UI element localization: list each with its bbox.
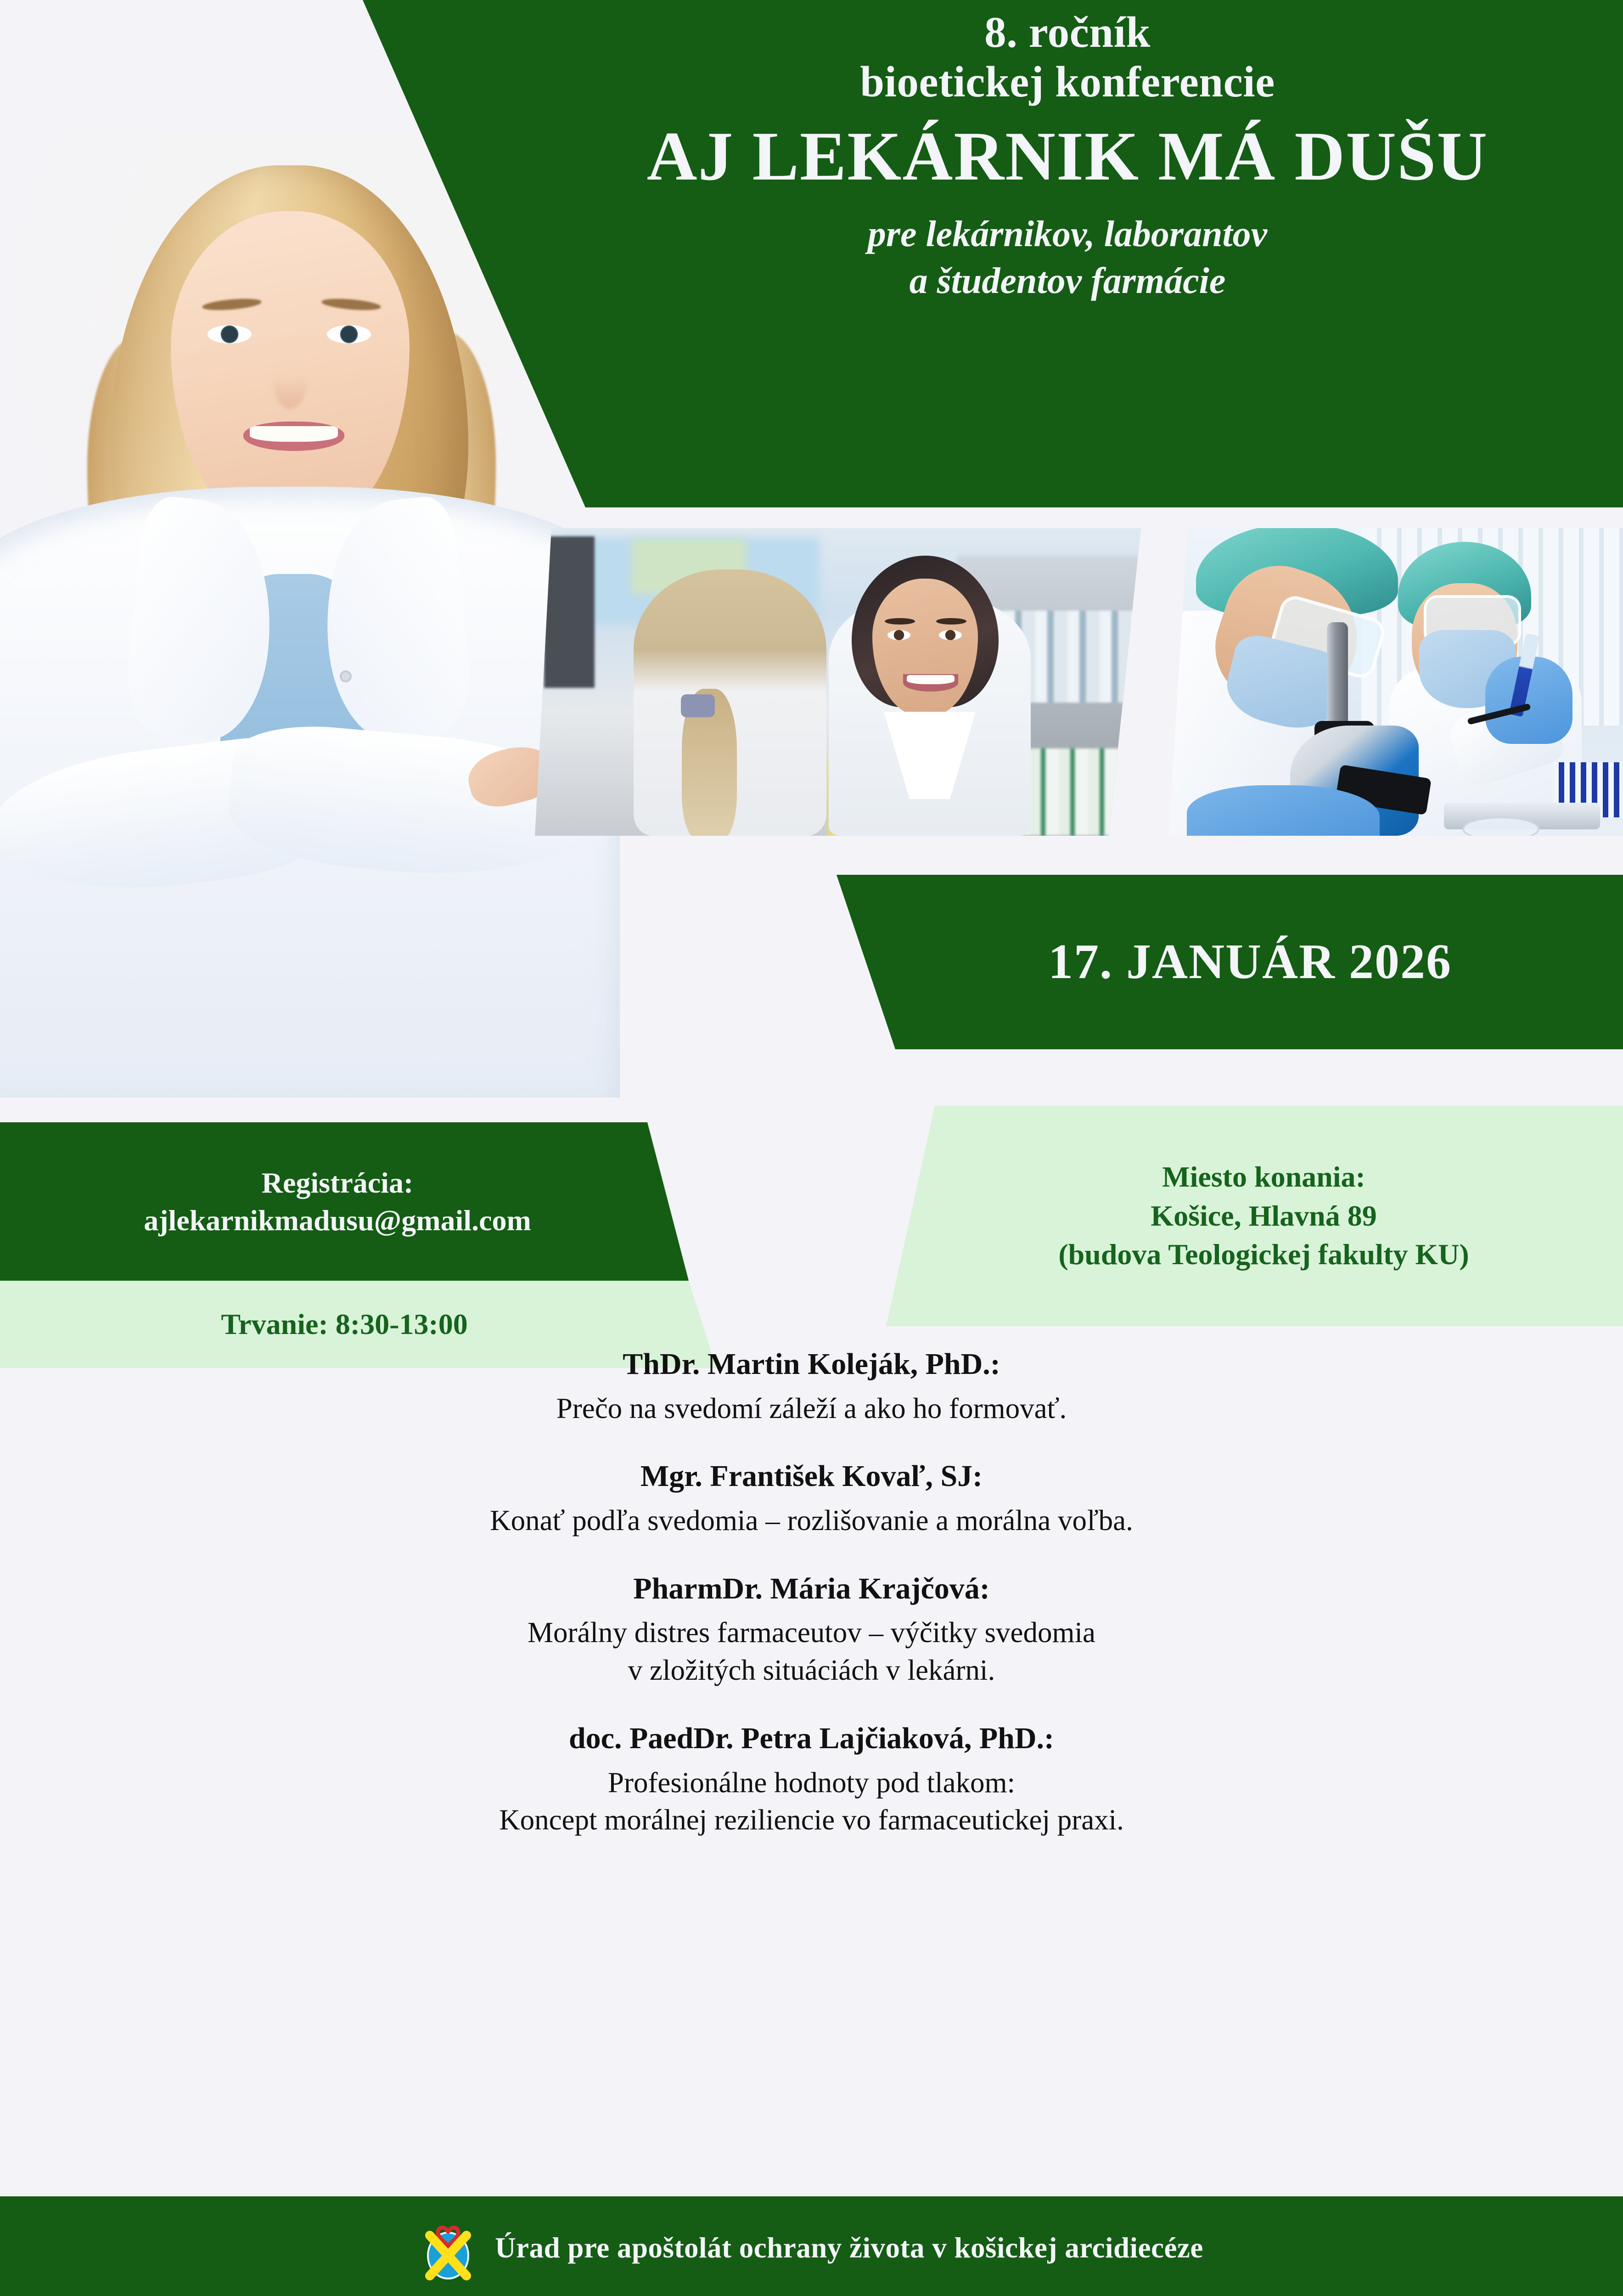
talk-speaker: PharmDr. Mária Krajčová: [119, 1570, 1504, 1608]
registration-email[interactable]: ajlekarnikmadusu@gmail.com [144, 1202, 531, 1239]
registration-text-group: Registrácia: ajlekarnikmadusu@gmail.com [0, 1122, 675, 1281]
conference-poster: 8. ročník bioetickej konferencie AJ LEKÁ… [0, 0, 1623, 2296]
talk-title-line: Konať podľa svedomia – rozlišovanie a mo… [119, 1502, 1504, 1540]
header-text-group: 8. ročník bioetickej konferencie AJ LEKÁ… [542, 7, 1593, 305]
venue-address: Košice, Hlavná 89 [1151, 1197, 1376, 1235]
pharmacy-consultation-photo [535, 528, 1141, 836]
footer-bar: Úrad pre apoštolát ochrany života v koši… [0, 2200, 1623, 2296]
talk-title: Morálny distres farmaceutov – výčitky sv… [119, 1614, 1504, 1689]
talk-title-line: Morálny distres farmaceutov – výčitky sv… [119, 1614, 1504, 1652]
program-list: ThDr. Martin Koleják, PhD.: Prečo na sve… [119, 1345, 1504, 1869]
audience-line-1: pre lekárnikov, laborantov [542, 211, 1593, 258]
venue-text-group: Miesto konania: Košice, Hlavná 89 (budov… [904, 1106, 1623, 1326]
talk-title: Konať podľa svedomia – rozlišovanie a mo… [119, 1502, 1504, 1540]
program-talk: doc. PaedDr. Petra Lajčiaková, PhD.: Pro… [119, 1720, 1504, 1839]
registration-label: Registrácia: [262, 1164, 414, 1202]
talk-speaker: Mgr. František Kovaľ, SJ: [119, 1458, 1504, 1496]
talk-title-line: Profesionálne hodnoty pod tlakom: [119, 1764, 1504, 1802]
venue-label: Miesto konania: [1162, 1158, 1365, 1196]
footer-divider [0, 2196, 1623, 2200]
event-kind-line: bioetickej konferencie [542, 57, 1593, 107]
audience-line-2: a študentov farmácie [542, 258, 1593, 304]
talk-title: Profesionálne hodnoty pod tlakom: Koncep… [119, 1764, 1504, 1840]
organizer-name: Úrad pre apoštolát ochrany života v koši… [495, 2231, 1203, 2265]
heart-saltire-logo-icon [420, 2213, 477, 2282]
talk-title-line: Koncept morálnej reziliencie vo farmaceu… [119, 1801, 1504, 1839]
program-talk: PharmDr. Mária Krajčová: Morálny distres… [119, 1570, 1504, 1689]
talk-speaker: doc. PaedDr. Petra Lajčiaková, PhD.: [119, 1720, 1504, 1758]
event-date: 17. JANUÁR 2026 [826, 875, 1623, 1049]
talk-title-line: v zložitých situáciách v lekárni. [119, 1652, 1504, 1689]
talk-speaker: ThDr. Martin Koleják, PhD.: [119, 1345, 1504, 1384]
program-talk: ThDr. Martin Koleják, PhD.: Prečo na sve… [119, 1345, 1504, 1427]
poster-title: AJ LEKÁRNIK MÁ DUŠU [542, 117, 1593, 195]
talk-title-line: Prečo na svedomí záleží a ako ho formova… [119, 1390, 1504, 1428]
program-talk: Mgr. František Kovaľ, SJ: Konať podľa sv… [119, 1458, 1504, 1539]
edition-line: 8. ročník [542, 7, 1593, 57]
laboratory-research-photo [1168, 528, 1623, 836]
venue-building: (budova Teologickej fakulty KU) [1058, 1235, 1469, 1274]
talk-title: Prečo na svedomí záleží a ako ho formova… [119, 1390, 1504, 1428]
